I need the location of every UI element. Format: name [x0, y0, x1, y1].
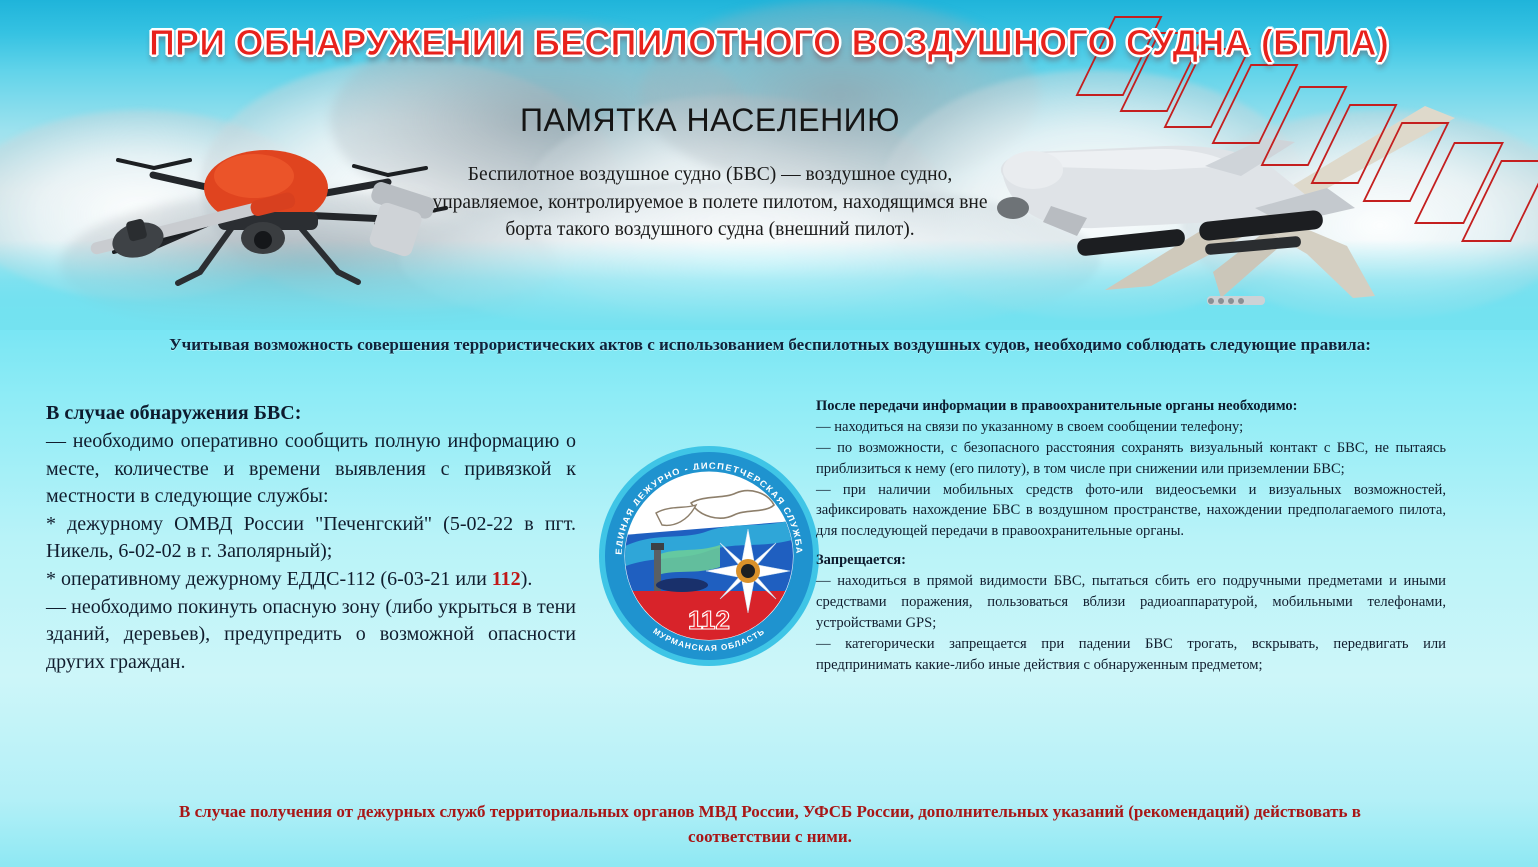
service-eddc-text-post: ). [521, 568, 533, 590]
prohibited-heading: Запрещается: [816, 552, 1446, 569]
poster-root: ПРИ ОБНАРУЖЕНИИ БЕСПИЛОТНОГО ВОЗДУШНОГО … [0, 0, 1538, 867]
page-title: ПРИ ОБНАРУЖЕНИИ БЕСПИЛОТНОГО ВОЗДУШНОГО … [149, 22, 1389, 64]
memo-block: ПАМЯТКА НАСЕЛЕНИЮ Беспилотное воздушное … [420, 102, 1000, 244]
intro-paragraph: Учитывая возможность совершения террорис… [110, 332, 1430, 358]
left-column-item2: — необходимо покинуть опасную зону (либо… [46, 594, 576, 677]
service-eddc-text-pre: * оперативному дежурному ЕДДС-112 (6-03-… [46, 568, 492, 590]
poster-title-bar: ПРИ ОБНАРУЖЕНИИ БЕСПИЛОТНОГО ВОЗДУШНОГО … [0, 22, 1538, 64]
right-column-heading: После передачи информации в правоохранит… [816, 398, 1446, 415]
right-column: После передачи информации в правоохранит… [816, 398, 1446, 675]
left-column-heading: В случае обнаружения БВС: [46, 402, 576, 425]
right-column-item1: — находиться на связи по указанному в св… [816, 417, 1446, 438]
emergency-number-112: 112 [492, 568, 521, 590]
right-column-item3: — при наличии мобильных средств фото-или… [816, 480, 1446, 543]
edds-112-emblem: ЕДИНАЯ ДЕЖУРНО - ДИСПЕТЧЕРСКАЯ СЛУЖБА МУ… [596, 443, 822, 669]
left-column-item1: — необходимо оперативно сообщить полную … [46, 428, 576, 511]
left-column: В случае обнаружения БВС: — необходимо о… [46, 402, 576, 676]
footer-notice: В случае получения от дежурных служб тер… [170, 800, 1370, 849]
memo-heading: ПАМЯТКА НАСЕЛЕНИЮ [420, 102, 1000, 139]
quadcopter-drone-image [58, 120, 478, 320]
emblem-number-112: 112 [688, 605, 730, 635]
memo-definition: Беспилотное воздушное судно (БВС) — возд… [420, 161, 1000, 244]
left-column-service-eddc: * оперативному дежурному ЕДДС-112 (6-03-… [46, 566, 576, 594]
prohibited-item2: — категорически запрещается при падении … [816, 634, 1446, 676]
left-column-service-omvd: * дежурному ОМВД России "Печенгский" (5-… [46, 511, 576, 566]
prohibited-item1: — находиться в прямой видимости БВС, пыт… [816, 571, 1446, 634]
right-column-item2: — по возможности, с безопасного расстоян… [816, 438, 1446, 480]
